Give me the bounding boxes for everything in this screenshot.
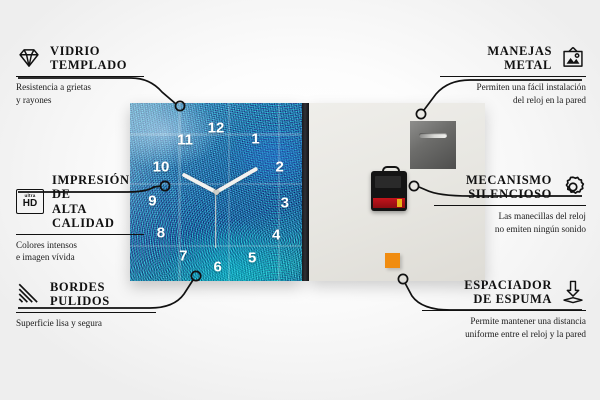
callout-title: MECANISMO SILENCIOSO xyxy=(466,173,552,202)
callout-header: ESPACIADOR DE ESPUMA xyxy=(422,278,586,307)
mechanism-hook xyxy=(382,166,400,176)
clock-numeral-2: 2 xyxy=(275,160,283,175)
diamond-icon xyxy=(16,45,42,71)
callout-mecanismo-silencioso: MECANISMO SILENCIOSO Las manecillas del … xyxy=(434,173,586,235)
callout-espaciador-espuma: ESPACIADOR DE ESPUMA Permite mantener un… xyxy=(422,278,586,340)
callout-title: BORDES PULIDOS xyxy=(50,280,110,309)
callout-title: MANEJAS METAL xyxy=(487,44,552,73)
callout-divider xyxy=(434,205,586,206)
callout-divider xyxy=(16,312,156,313)
wall-hanger-icon xyxy=(560,45,586,71)
callout-header: MANEJAS METAL xyxy=(440,44,586,73)
clock-numeral-8: 8 xyxy=(157,225,165,240)
callout-divider xyxy=(440,76,586,77)
hanger-slot xyxy=(419,133,447,138)
arrow-down-spacer-icon xyxy=(560,279,586,305)
foam-spacer xyxy=(385,253,400,268)
callout-description: Colores intensos e imagen vívida xyxy=(16,239,144,264)
clock-numeral-5: 5 xyxy=(248,250,256,265)
clock-numeral-10: 10 xyxy=(153,160,170,175)
ultra-hd-icon-main-text: HD xyxy=(23,199,37,209)
clock-numeral-3: 3 xyxy=(281,195,289,210)
clock-front-panel: 12 1 2 3 4 5 6 7 8 9 10 11 xyxy=(130,103,302,281)
polished-edge-icon xyxy=(16,281,42,307)
callout-manejas-metal: MANEJAS METAL Permiten una fácil instala… xyxy=(440,44,586,106)
callout-description: Permiten una fácil instalación del reloj… xyxy=(440,81,586,106)
metal-hanger-plate xyxy=(410,121,456,169)
clock-numeral-1: 1 xyxy=(251,131,259,146)
callout-title: IMPRESIÓN DE ALTA CALIDAD xyxy=(52,173,144,231)
mechanism-body xyxy=(375,176,401,188)
callout-description: Superficie lisa y segura xyxy=(16,317,156,329)
callout-divider xyxy=(16,234,144,235)
pattern-grid-line xyxy=(278,103,280,281)
ultra-hd-icon: ultra HD xyxy=(16,189,44,214)
infographic-canvas: 12 1 2 3 4 5 6 7 8 9 10 11 xyxy=(0,0,600,400)
battery-terminal xyxy=(397,199,402,207)
callout-title: VIDRIO TEMPLADO xyxy=(50,44,127,73)
callout-header: ultra HD IMPRESIÓN DE ALTA CALIDAD xyxy=(16,173,144,231)
callout-description: Permite mantener una distancia uniforme … xyxy=(422,315,586,340)
clock-numeral-6: 6 xyxy=(214,259,222,274)
clock-numeral-9: 9 xyxy=(148,193,156,208)
callout-header: VIDRIO TEMPLADO xyxy=(16,44,144,73)
callout-description: Resistencia a grietas y rayones xyxy=(16,81,144,106)
clock-center-cap xyxy=(214,190,219,195)
glass-edge xyxy=(302,103,309,281)
callout-header: BORDES PULIDOS xyxy=(16,280,156,309)
clock-numeral-11: 11 xyxy=(177,133,193,148)
callout-divider xyxy=(422,310,586,311)
callout-title: ESPACIADOR DE ESPUMA xyxy=(464,278,552,307)
callout-description: Las manecillas del reloj no emiten ningú… xyxy=(434,210,586,235)
clock-numeral-4: 4 xyxy=(272,227,280,242)
clock-numeral-12: 12 xyxy=(208,120,225,135)
callout-header: MECANISMO SILENCIOSO xyxy=(434,173,586,202)
callout-vidrio-templado: VIDRIO TEMPLADO Resistencia a grietas y … xyxy=(16,44,144,106)
clock-numeral-7: 7 xyxy=(179,249,187,264)
callout-bordes-pulidos: BORDES PULIDOS Superficie lisa y segura xyxy=(16,280,156,330)
battery-label xyxy=(373,198,405,208)
callout-divider xyxy=(16,76,144,77)
gear-icon xyxy=(560,174,586,200)
product-image: 12 1 2 3 4 5 6 7 8 9 10 11 xyxy=(130,103,485,281)
pattern-grid-line xyxy=(228,103,230,281)
pattern-grid-line xyxy=(130,183,302,185)
callout-impresion-alta-calidad: ultra HD IMPRESIÓN DE ALTA CALIDAD Color… xyxy=(16,173,144,264)
clock-mechanism xyxy=(371,171,407,211)
